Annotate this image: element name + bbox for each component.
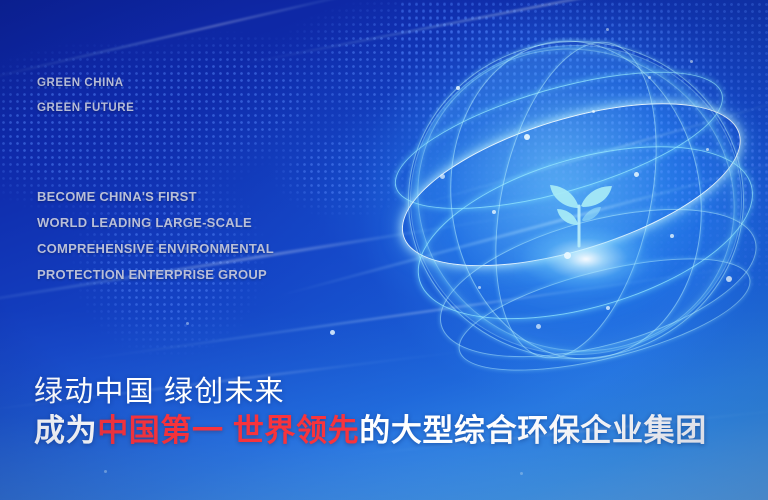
particle-dot (520, 472, 523, 475)
particle-dot (330, 330, 335, 335)
particle-dot (186, 322, 189, 325)
claim-line-2: WORLD LEADING LARGE-SCALE (37, 210, 274, 236)
particle-dot (104, 470, 107, 473)
particle-dot (524, 134, 530, 140)
particle-dot (606, 306, 610, 310)
claim-line-1: BECOME CHINA'S FIRST (37, 184, 274, 210)
particle-dot (726, 276, 732, 282)
headline-line-2: 成为中国第一 世界领先的大型综合环保企业集团 (34, 410, 707, 451)
particle-dot (634, 172, 639, 177)
headline-block: 绿动中国 绿创未来 成为中国第一 世界领先的大型综合环保企业集团 (34, 374, 707, 451)
particle-dot (440, 174, 445, 179)
particle-dot (564, 252, 571, 259)
headline-highlight: 中国第一 世界领先 (97, 413, 359, 448)
particle-dot (690, 60, 693, 63)
tagline-line-1: GREEN CHINA (37, 71, 134, 96)
claim-line-4: PROTECTION ENTERPRISE GROUP (37, 262, 274, 288)
particle-dot (536, 324, 541, 329)
particle-dot (606, 28, 609, 31)
particle-dot (456, 86, 460, 90)
particle-dot (478, 286, 481, 289)
particle-dot (706, 148, 709, 151)
headline-prefix: 成为 (34, 413, 97, 448)
particle-dot (648, 76, 651, 79)
headline-line-1: 绿动中国 绿创未来 (34, 374, 707, 410)
claim-block: BECOME CHINA'S FIRST WORLD LEADING LARGE… (37, 184, 274, 288)
tagline-line-2: GREEN FUTURE (37, 96, 134, 121)
headline-suffix: 的大型综合环保企业集团 (359, 413, 707, 448)
particle-dot (670, 234, 674, 238)
globe-graphic (396, 24, 756, 376)
tagline-block: GREEN CHINA GREEN FUTURE (37, 71, 134, 121)
particle-dot (492, 210, 496, 214)
particle-dot (592, 110, 595, 113)
claim-line-3: COMPREHENSIVE ENVIRONMENTAL (37, 236, 274, 262)
green-china-hero-banner: GREEN CHINA GREEN FUTURE BECOME CHINA'S … (0, 0, 768, 500)
green-sprout-icon (542, 162, 616, 248)
